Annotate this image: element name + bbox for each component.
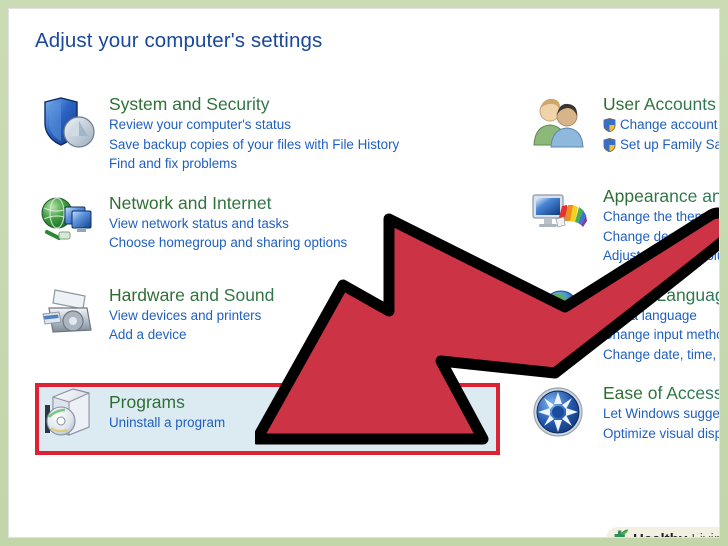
category-link[interactable]: Add a device [109, 325, 505, 345]
hardware-and-sound-icon [39, 286, 97, 342]
control-panel-body: Adjust your computer's settings [9, 9, 720, 538]
category-clock-language-region[interactable]: Clock, Language, and Region Add a langua… [521, 284, 720, 365]
category-link[interactable]: Set up Family Safety for any user [603, 135, 720, 155]
category-link[interactable]: Let Windows suggest settings [603, 404, 720, 424]
green-cross-leaf-icon [612, 528, 629, 538]
category-programs[interactable]: Programs Uninstall a program [35, 383, 500, 455]
category-title: Hardware and Sound [109, 284, 505, 306]
uac-shield-icon [603, 118, 616, 132]
user-accounts-icon [529, 95, 587, 151]
category-link[interactable]: Add a language [603, 306, 720, 326]
clock-language-region-icon [529, 286, 587, 342]
category-link[interactable]: Adjust screen resolution [603, 246, 720, 266]
category-network-and-internet[interactable]: Network and Internet View network status… [35, 192, 505, 266]
category-link[interactable]: Find and fix problems [109, 154, 505, 174]
category-title: Programs [109, 391, 500, 413]
uac-shield-icon [603, 138, 616, 152]
watermark-brand-light: Living [691, 531, 720, 539]
watermark: Healthy Living [606, 527, 720, 538]
category-title: System and Security [109, 93, 505, 115]
category-title: Appearance and Personalization [603, 185, 720, 207]
network-and-internet-icon [39, 194, 97, 250]
category-title: Ease of Access [603, 382, 720, 404]
category-link[interactable]: Change desktop background [603, 227, 720, 247]
page-title: Adjust your computer's settings [35, 29, 322, 53]
category-link[interactable]: Change the theme [603, 207, 720, 227]
category-title: User Accounts [603, 93, 720, 115]
category-link[interactable]: Change date, time, or number formats [603, 345, 720, 365]
category-link[interactable]: Choose homegroup and sharing options [109, 233, 505, 253]
category-link-label: Change account type [620, 117, 720, 132]
screenshot-root: Adjust your computer's settings [0, 0, 728, 546]
system-and-security-icon [39, 95, 97, 151]
category-link[interactable]: Review your computer's status [109, 115, 505, 135]
watermark-text: Healthy Living [633, 531, 720, 539]
watermark-brand-bold: Healthy [633, 531, 687, 539]
category-hardware-and-sound[interactable]: Hardware and Sound View devices and prin… [35, 284, 505, 358]
category-column-right: User Accounts Change account type [521, 93, 720, 474]
category-link[interactable]: View network status and tasks [109, 214, 505, 234]
programs-icon [39, 385, 97, 441]
category-title: Clock, Language, and Region [603, 284, 720, 306]
category-column-left: System and Security Review your computer… [35, 93, 505, 376]
category-link[interactable]: Change input methods [603, 325, 720, 345]
category-ease-of-access[interactable]: Ease of Access Let Windows suggest setti… [521, 382, 720, 456]
category-system-and-security[interactable]: System and Security Review your computer… [35, 93, 505, 174]
category-user-accounts[interactable]: User Accounts Change account type [521, 93, 720, 167]
category-link[interactable]: Optimize visual display [603, 424, 720, 444]
ease-of-access-icon [529, 384, 587, 440]
category-link[interactable]: Uninstall a program [109, 413, 500, 433]
category-appearance-and-personalization[interactable]: Appearance and Personalization Change th… [521, 185, 720, 266]
category-title: Network and Internet [109, 192, 505, 214]
category-link[interactable]: Save backup copies of your files with Fi… [109, 135, 505, 155]
category-link[interactable]: Change account type [603, 115, 720, 135]
appearance-and-personalization-icon [529, 187, 587, 243]
category-link-label: Set up Family Safety for any user [620, 137, 720, 152]
category-link[interactable]: View devices and printers [109, 306, 505, 326]
control-panel-window: Adjust your computer's settings [8, 8, 720, 538]
